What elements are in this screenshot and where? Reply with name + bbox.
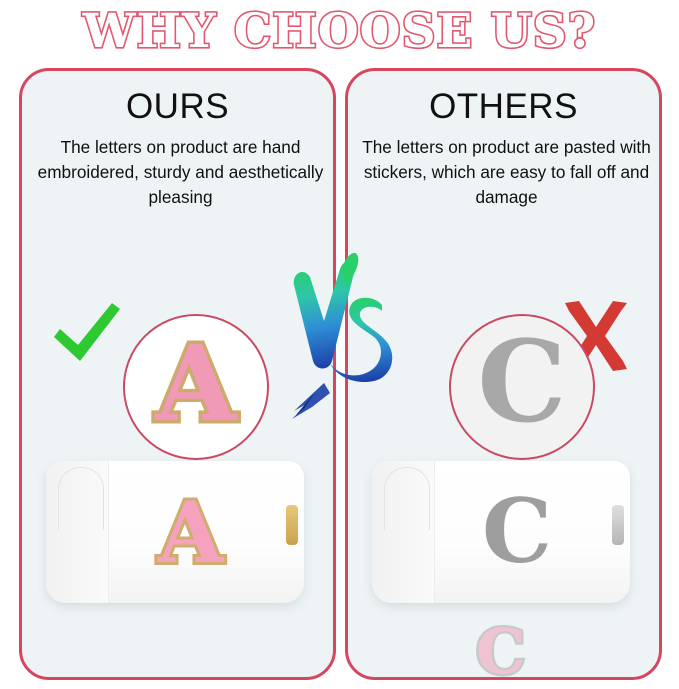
patch-letter-c: C: [477, 327, 566, 439]
patch-letter-a: A: [156, 332, 237, 436]
page-header: WHY CHOOSE US?: [0, 0, 679, 62]
zipper-pull-gold-icon: [286, 505, 298, 545]
check-icon: [50, 299, 124, 373]
fallen-off-patch-c: C: [476, 621, 525, 680]
patch-showcase-others: C: [449, 314, 595, 460]
product-stage-others: C C: [348, 443, 659, 680]
panel-description-ours: The letters on product are hand embroide…: [36, 135, 325, 210]
pouch-flap: [372, 461, 435, 603]
product-stage-ours: A: [22, 443, 333, 680]
page-title: WHY CHOOSE US?: [83, 8, 596, 55]
zipper-pull-silver-icon: [612, 505, 624, 545]
product-pouch-ours: A: [46, 461, 304, 603]
panel-title-others: OTHERS: [348, 87, 659, 127]
panel-description-others: The letters on product are pasted with s…: [362, 135, 651, 210]
versus-graphic: [286, 243, 396, 433]
panel-title-ours: OURS: [22, 87, 333, 127]
product-letter-a: A: [158, 491, 223, 575]
product-pouch-others: C: [372, 461, 630, 603]
patch-showcase-ours: A: [123, 314, 269, 460]
product-letter-c: C: [482, 487, 552, 575]
pouch-flap: [46, 461, 109, 603]
